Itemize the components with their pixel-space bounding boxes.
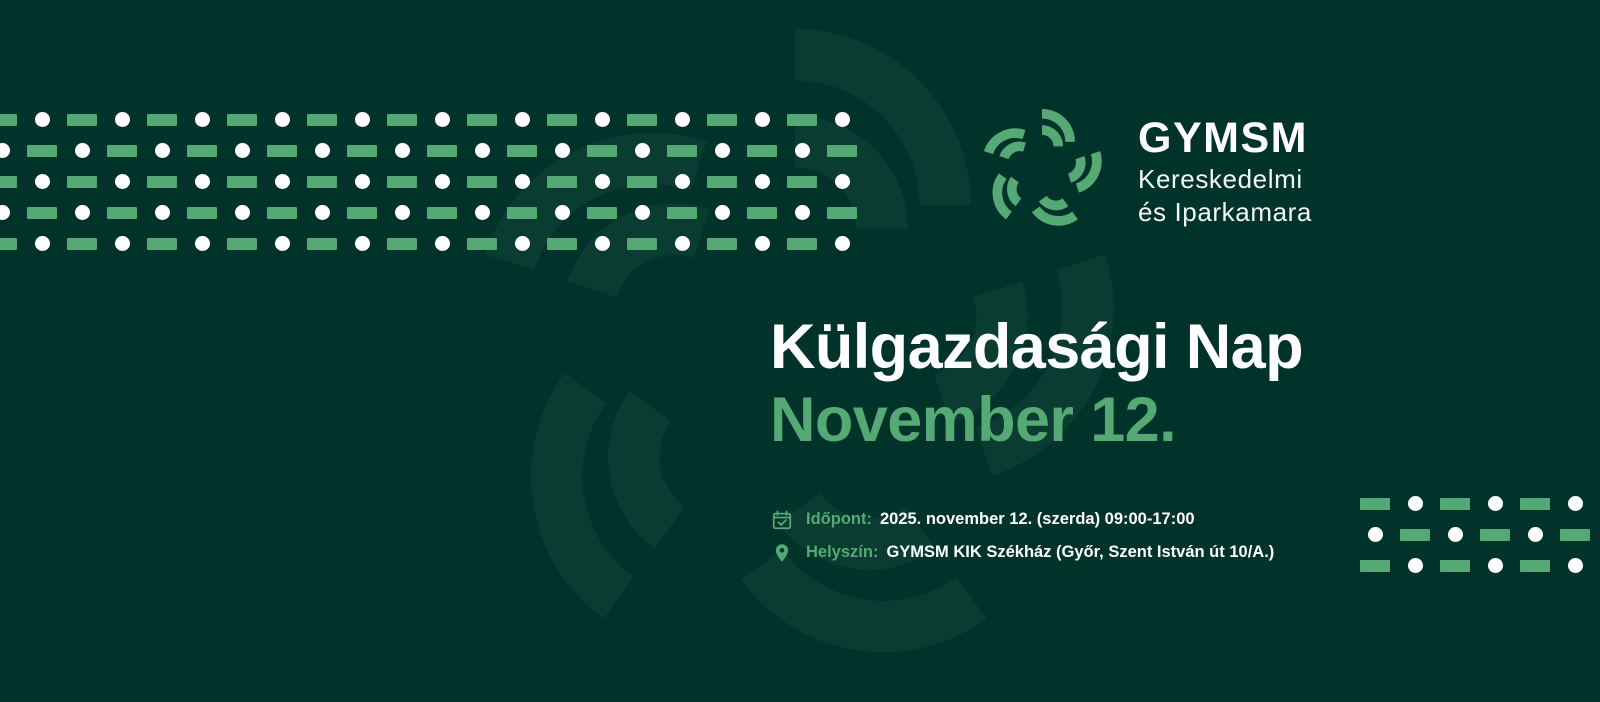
event-location-label: Helyszín:: [806, 543, 878, 562]
pattern-dot: [635, 205, 650, 220]
pattern-dot: [195, 174, 210, 189]
pattern-dash: [67, 176, 97, 188]
pattern-dash: [827, 207, 857, 219]
pattern-dot: [275, 174, 290, 189]
pattern-dot: [475, 143, 490, 158]
pattern-dot: [1568, 496, 1583, 511]
pattern-dot: [315, 205, 330, 220]
pattern-dash: [267, 145, 297, 157]
pattern-dot: [715, 205, 730, 220]
pattern-dot: [235, 205, 250, 220]
pattern-dash: [0, 238, 17, 250]
pattern-dot: [435, 112, 450, 127]
pattern-dot: [675, 174, 690, 189]
pattern-dash: [587, 145, 617, 157]
pattern-dash: [1440, 560, 1470, 572]
pattern-dash: [587, 207, 617, 219]
pattern-dash: [307, 176, 337, 188]
event-title: Külgazdasági Nap: [770, 312, 1303, 383]
pattern-dot: [115, 236, 130, 251]
pattern-dash: [707, 176, 737, 188]
pattern-dot: [635, 143, 650, 158]
pattern-dash: [227, 238, 257, 250]
pattern-dot: [155, 143, 170, 158]
dot-dash-pattern-right: [1355, 488, 1600, 578]
pattern-dash: [387, 114, 417, 126]
pattern-dot: [595, 236, 610, 251]
pattern-dot: [395, 143, 410, 158]
pattern-dash: [627, 176, 657, 188]
pattern-dash: [707, 114, 737, 126]
pattern-dot: [0, 143, 10, 158]
calendar-check-icon: [770, 508, 794, 532]
pattern-dot: [235, 143, 250, 158]
pattern-dash: [107, 207, 137, 219]
pattern-dash: [467, 114, 497, 126]
pattern-dot: [675, 236, 690, 251]
pattern-dot: [675, 112, 690, 127]
pattern-dash: [147, 114, 177, 126]
pattern-dot: [35, 112, 50, 127]
pattern-dot: [1368, 527, 1383, 542]
pattern-dot: [75, 143, 90, 158]
pattern-dash: [387, 176, 417, 188]
pattern-dot: [35, 174, 50, 189]
pattern-dot: [755, 236, 770, 251]
pattern-dot: [595, 174, 610, 189]
pattern-dot: [1488, 496, 1503, 511]
event-meta-row-date: Időpont: 2025. november 12. (szerda) 09:…: [770, 506, 1274, 533]
pattern-dot: [515, 112, 530, 127]
pattern-dot: [275, 236, 290, 251]
pattern-dot: [595, 112, 610, 127]
event-date-label: Időpont:: [806, 510, 872, 529]
pattern-dash: [267, 207, 297, 219]
pattern-dot: [115, 174, 130, 189]
pattern-dash: [507, 145, 537, 157]
pattern-dot: [795, 143, 810, 158]
pattern-dot: [835, 112, 850, 127]
pattern-dash: [427, 145, 457, 157]
pattern-dash: [787, 176, 817, 188]
pattern-dash: [147, 176, 177, 188]
pattern-dash: [747, 207, 777, 219]
pattern-dash: [1360, 560, 1390, 572]
pattern-dash: [27, 145, 57, 157]
pattern-dot: [515, 174, 530, 189]
logo-subtitle-line2: és Iparkamara: [1138, 198, 1312, 227]
pattern-dot: [195, 236, 210, 251]
pattern-dash: [667, 207, 697, 219]
pattern-dash: [107, 145, 137, 157]
pattern-dot: [355, 174, 370, 189]
logo-brand-text: GYMSM: [1138, 117, 1312, 161]
pattern-dash: [0, 114, 17, 126]
pattern-dot: [475, 205, 490, 220]
pattern-dash: [1480, 529, 1510, 541]
pattern-dash: [627, 114, 657, 126]
pattern-dash: [547, 238, 577, 250]
pattern-dash: [1400, 529, 1430, 541]
event-headline: Külgazdasági Nap November 12.: [770, 312, 1303, 455]
pattern-dot: [435, 236, 450, 251]
pattern-dot: [275, 112, 290, 127]
pattern-dash: [707, 238, 737, 250]
pattern-dash: [547, 114, 577, 126]
pattern-dot: [1448, 527, 1463, 542]
pattern-dot: [835, 236, 850, 251]
event-location-value: GYMSM KIK Székház (Győr, Szent István út…: [886, 543, 1274, 562]
pattern-dash: [387, 238, 417, 250]
pattern-dot: [1408, 496, 1423, 511]
pattern-dot: [515, 236, 530, 251]
pattern-dot: [155, 205, 170, 220]
pattern-dot: [795, 205, 810, 220]
pattern-dot: [75, 205, 90, 220]
pattern-dot: [0, 205, 10, 220]
pattern-dot: [1488, 558, 1503, 573]
pattern-dash: [307, 238, 337, 250]
pattern-dot: [35, 236, 50, 251]
pattern-dot: [395, 205, 410, 220]
event-meta: Időpont: 2025. november 12. (szerda) 09:…: [770, 506, 1274, 572]
pattern-dash: [1520, 498, 1550, 510]
pattern-dash: [347, 207, 377, 219]
logo-wordmark: GYMSM Kereskedelmi és Iparkamara: [1138, 113, 1312, 227]
pattern-dot: [355, 236, 370, 251]
pattern-dash: [467, 176, 497, 188]
pattern-dot: [555, 143, 570, 158]
pattern-dot: [195, 112, 210, 127]
pattern-dash: [187, 207, 217, 219]
pattern-dot: [1408, 558, 1423, 573]
pattern-dash: [427, 207, 457, 219]
pattern-dot: [1568, 558, 1583, 573]
pattern-dash: [1440, 498, 1470, 510]
pattern-dash: [67, 238, 97, 250]
gymsm-arcs-logo-icon: [968, 96, 1116, 244]
pattern-dash: [307, 114, 337, 126]
pattern-dash: [547, 176, 577, 188]
pattern-dot: [355, 112, 370, 127]
pattern-dash: [1560, 529, 1590, 541]
event-meta-row-location: Helyszín: GYMSM KIK Székház (Győr, Szent…: [770, 539, 1274, 566]
pattern-dash: [1360, 498, 1390, 510]
pattern-dash: [667, 145, 697, 157]
pattern-dash: [467, 238, 497, 250]
pattern-dot: [715, 143, 730, 158]
pattern-dash: [227, 176, 257, 188]
pattern-dot: [115, 112, 130, 127]
map-pin-icon: [770, 541, 794, 565]
logo-subtitle-line1: Kereskedelmi: [1138, 165, 1312, 194]
pattern-dash: [67, 114, 97, 126]
pattern-dash: [747, 145, 777, 157]
pattern-dash: [787, 114, 817, 126]
pattern-dash: [27, 207, 57, 219]
pattern-dash: [827, 145, 857, 157]
pattern-dash: [347, 145, 377, 157]
pattern-dot: [755, 174, 770, 189]
pattern-dash: [0, 176, 17, 188]
pattern-dash: [1520, 560, 1550, 572]
pattern-dot: [435, 174, 450, 189]
pattern-dash: [627, 238, 657, 250]
pattern-dot: [315, 143, 330, 158]
event-date-value: 2025. november 12. (szerda) 09:00-17:00: [880, 510, 1195, 529]
pattern-dash: [227, 114, 257, 126]
pattern-dot: [755, 112, 770, 127]
pattern-dash: [187, 145, 217, 157]
pattern-dash: [507, 207, 537, 219]
pattern-dot: [835, 174, 850, 189]
pattern-dot: [1528, 527, 1543, 542]
pattern-dash: [147, 238, 177, 250]
pattern-dot: [555, 205, 570, 220]
dot-dash-pattern-left: [0, 104, 862, 254]
event-date-title: November 12.: [770, 385, 1303, 456]
event-banner: GYMSM Kereskedelmi és Iparkamara Külgazd…: [0, 0, 1600, 702]
gymsm-logo-lockup[interactable]: GYMSM Kereskedelmi és Iparkamara: [968, 96, 1312, 244]
pattern-dash: [787, 238, 817, 250]
